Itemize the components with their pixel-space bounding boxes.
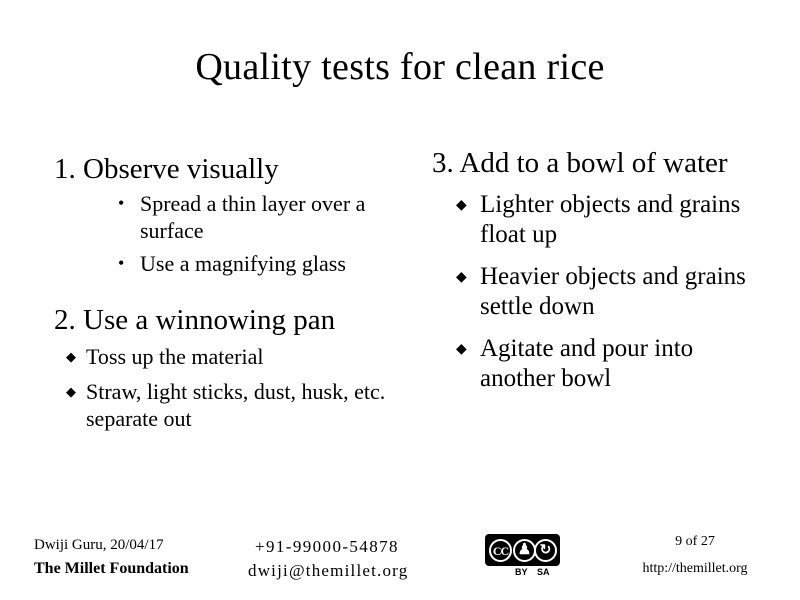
page-number: 9 of 27	[600, 534, 790, 550]
footer-organization: The Millet Foundation	[34, 558, 189, 579]
round-bullet-icon: •	[118, 250, 124, 277]
list-item: ◆ Heavier objects and grains settle down	[450, 262, 762, 322]
list-item: • Spread a thin layer over a surface	[110, 190, 428, 244]
list-item-label: Lighter objects and grains float up	[480, 191, 740, 248]
list-item-label: Agitate and pour into another bowl	[480, 335, 693, 392]
list-item-label: Straw, light sticks, dust, husk, etc. se…	[86, 379, 385, 431]
cc-sa-label: SA	[537, 567, 550, 577]
diamond-bullet-icon: ◆	[66, 377, 76, 406]
footer-phone: +91-99000-54878	[255, 536, 399, 558]
footer-email: dwiji@themillet.org	[248, 560, 408, 582]
cc-circle-icon: CC	[489, 539, 512, 562]
left-column: 1. Observe visually • Spread a thin laye…	[48, 152, 428, 440]
diamond-bullet-icon: ◆	[66, 342, 76, 371]
round-bullet-icon: •	[118, 190, 124, 217]
list-item: • Use a magnifying glass	[110, 250, 428, 277]
section-heading-winnowing-pan: 2. Use a winnowing pan	[54, 303, 428, 337]
creative-commons-license-icon: CC ♟ ↻ BY SA	[485, 534, 560, 579]
section-heading-observe-visually: 1. Observe visually	[54, 152, 428, 186]
diamond-bullet-icon: ◆	[456, 334, 467, 366]
list-item: ◆ Lighter objects and grains float up	[450, 190, 762, 250]
list-bowl-of-water: ◆ Lighter objects and grains float up ◆ …	[432, 190, 762, 394]
footer-url: http://themillet.org	[600, 561, 790, 577]
diamond-bullet-icon: ◆	[456, 190, 467, 222]
list-item-label: Use a magnifying glass	[140, 251, 346, 276]
list-observe-visually: • Spread a thin layer over a surface • U…	[48, 190, 428, 277]
list-item-label: Spread a thin layer over a surface	[140, 191, 365, 243]
list-item-label: Toss up the material	[86, 344, 263, 369]
list-winnowing-pan: ◆ Toss up the material ◆ Straw, light st…	[48, 343, 428, 432]
page-title: Quality tests for clean rice	[0, 44, 800, 90]
diamond-bullet-icon: ◆	[456, 262, 467, 294]
right-column: 3. Add to a bowl of water ◆ Lighter obje…	[432, 146, 762, 406]
cc-attribution-icon: ♟	[513, 539, 536, 562]
slide: Quality tests for clean rice 1. Observe …	[0, 0, 800, 600]
list-item: ◆ Straw, light sticks, dust, husk, etc. …	[62, 378, 428, 432]
cc-by-label: BY	[515, 567, 528, 577]
list-item: ◆ Toss up the material	[62, 343, 428, 370]
footer-author: Dwiji Guru, 20/04/17	[34, 535, 164, 556]
section-heading-bowl-of-water: 3. Add to a bowl of water	[432, 146, 762, 180]
list-item-label: Heavier objects and grains settle down	[480, 263, 746, 320]
list-item: ◆ Agitate and pour into another bowl	[450, 334, 762, 394]
cc-sharealike-icon: ↻	[534, 539, 557, 562]
